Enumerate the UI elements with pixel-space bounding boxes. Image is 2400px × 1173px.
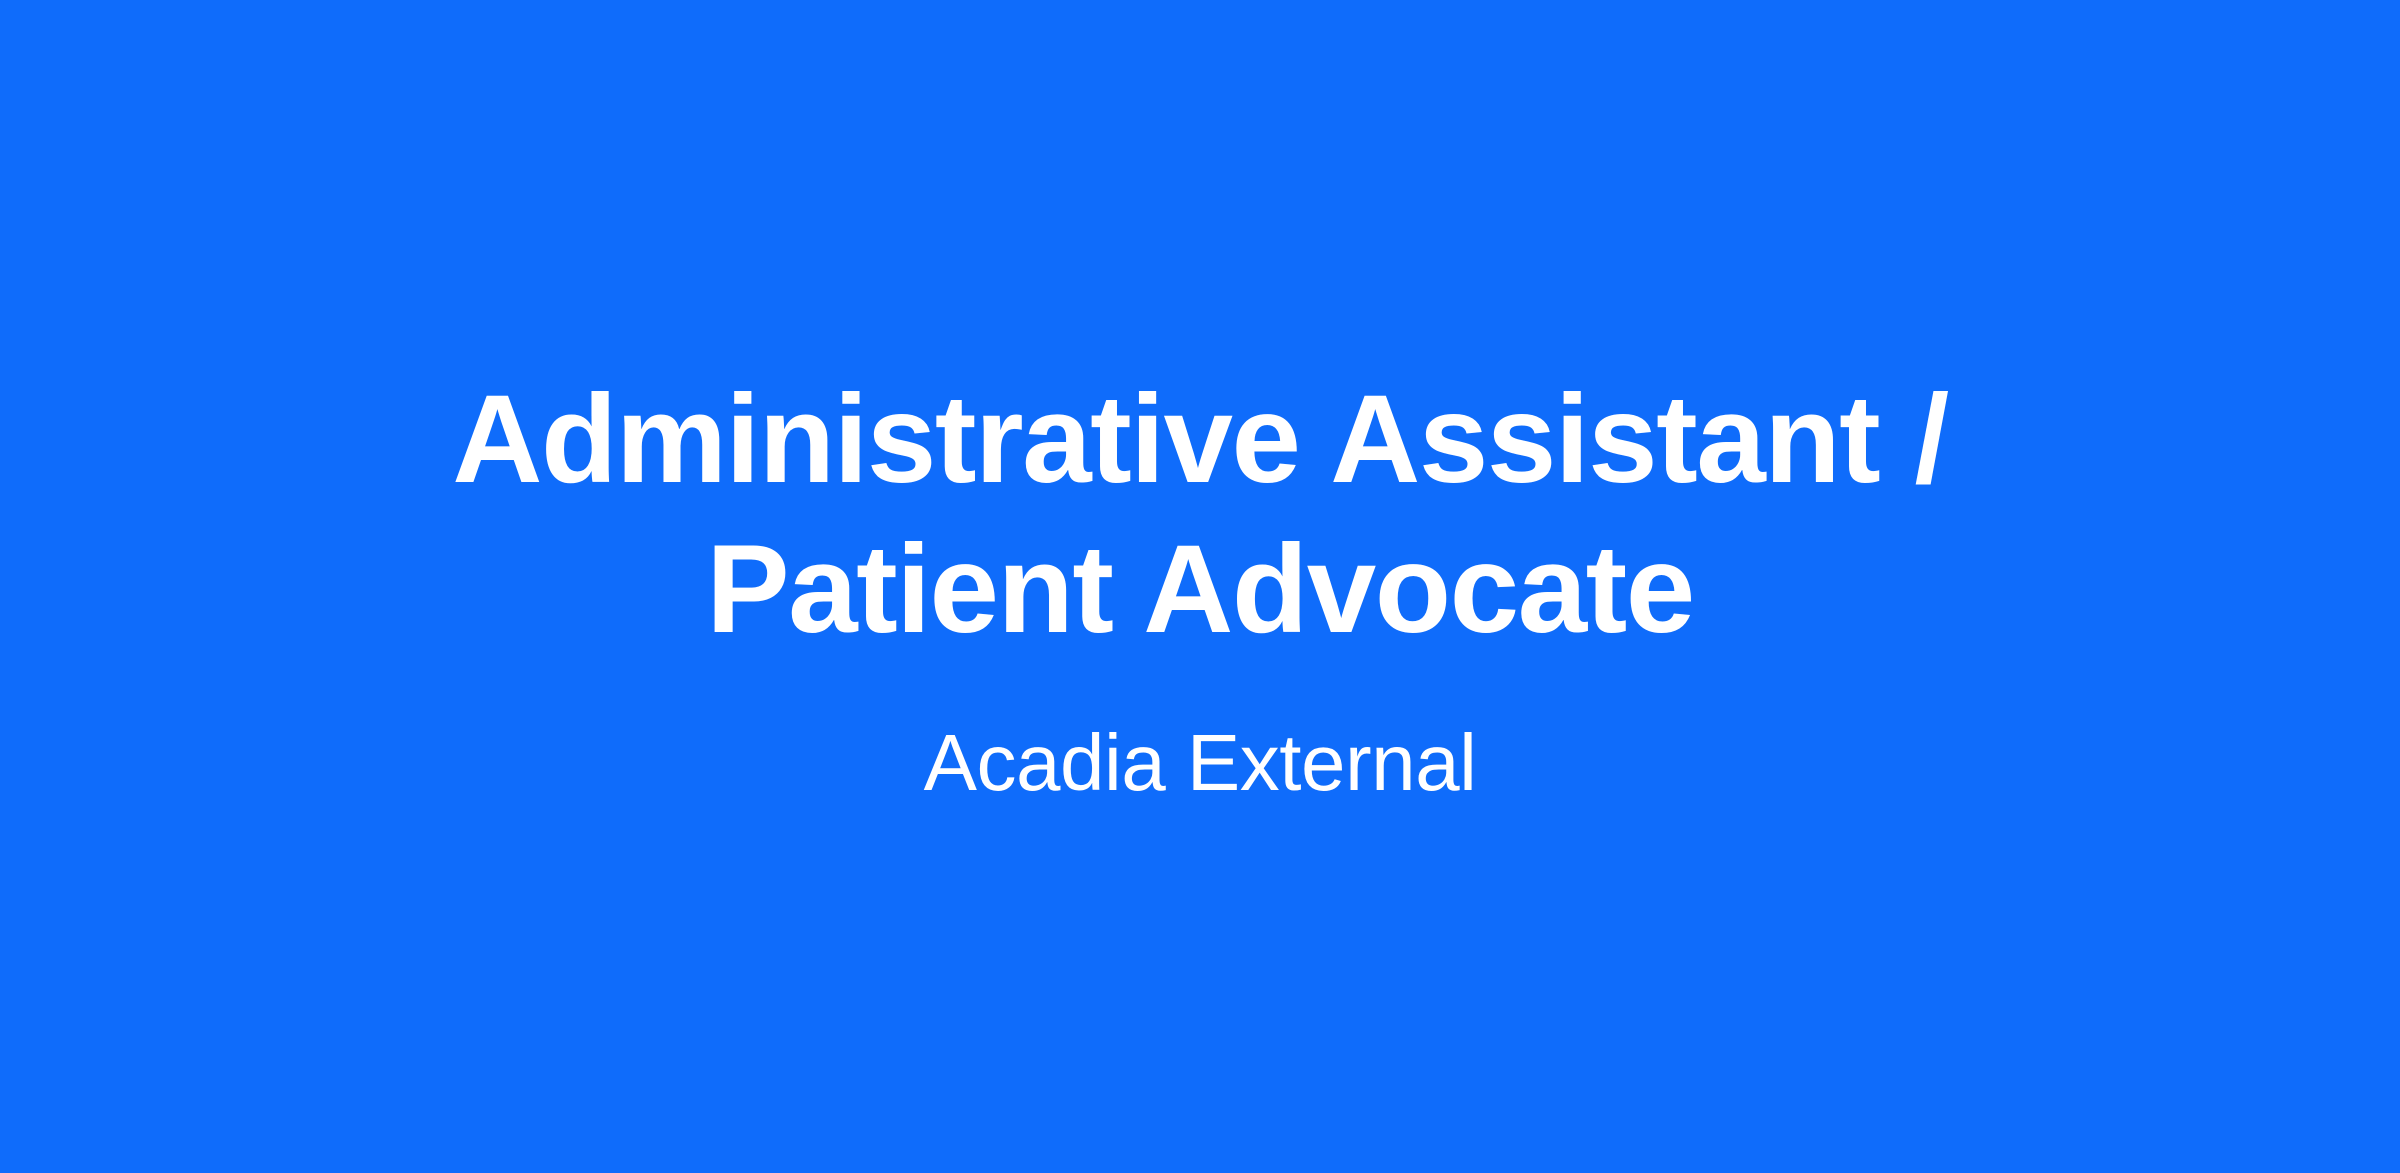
hero-banner: Administrative Assistant / Patient Advoc…	[0, 0, 2400, 1173]
page-title: Administrative Assistant / Patient Advoc…	[450, 365, 1950, 665]
hero-content: Administrative Assistant / Patient Advoc…	[380, 365, 2020, 809]
page-subtitle: Acadia External	[380, 665, 2020, 809]
